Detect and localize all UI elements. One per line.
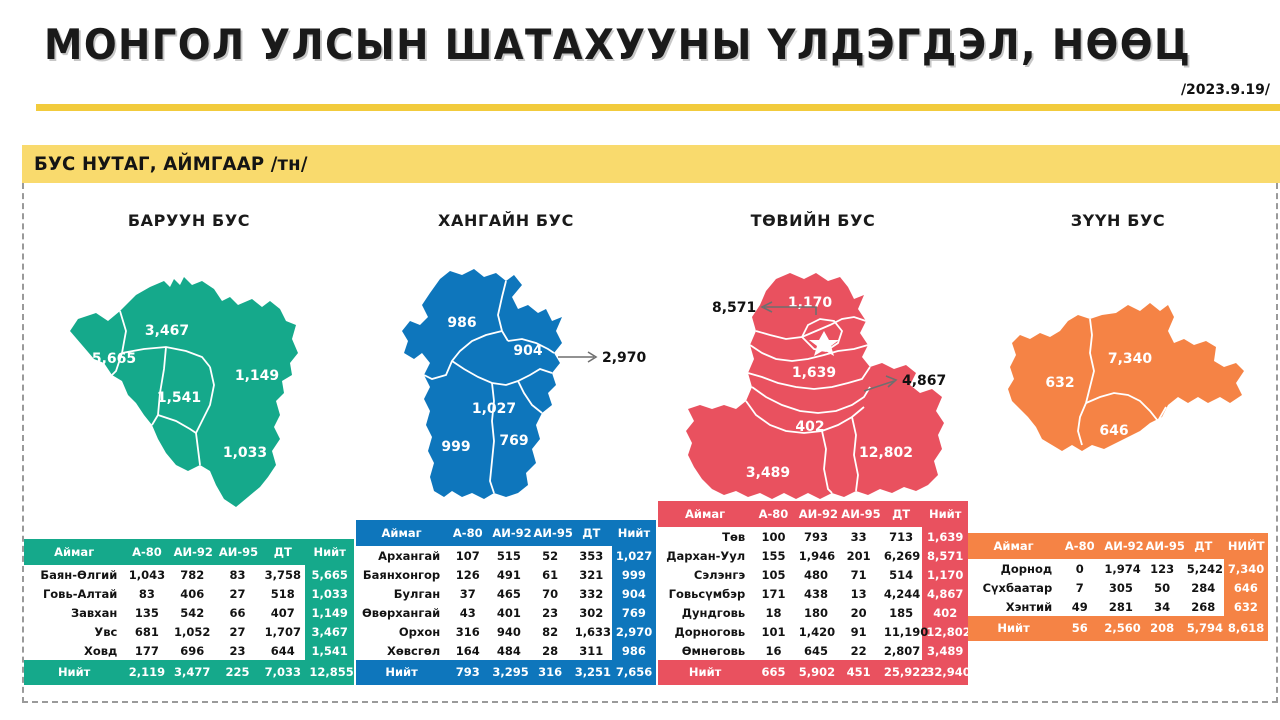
table-header-row: Аймаг А-80 АИ-92 АИ-95 ДТ Нийт: [356, 520, 656, 546]
region-block-zuun: ЗҮҮН БУС 632 7,340 646 Аймаг: [968, 183, 1268, 703]
cell-total: 1,639: [922, 527, 968, 546]
region-table-wrap-khangai: Аймаг А-80 АИ-92 АИ-95 ДТ Нийт Архангай …: [356, 520, 656, 685]
table-header-row: Аймаг А-80 АИ-92 АИ-95 ДТ Нийт: [24, 539, 354, 565]
total-sum: 8,618: [1224, 616, 1268, 641]
table-row: Дорноговь 101 1,420 91 11,190 12,802: [658, 622, 968, 641]
cell-name: Хэнтий: [968, 597, 1059, 616]
cell-ai95: 66: [215, 603, 260, 622]
callout-khangai-0: 2,970: [558, 350, 647, 366]
cell-total: 986: [612, 641, 656, 660]
cell-total: 1,027: [612, 546, 656, 565]
cell-ai92: 793: [795, 527, 838, 546]
col-header-ai92: АИ-92: [795, 501, 838, 527]
total-ai95: 451: [837, 660, 880, 685]
cell-a80: 49: [1059, 597, 1100, 616]
total-label: Нийт: [658, 660, 752, 685]
region-table-tuv: Аймаг А-80 АИ-92 АИ-95 ДТ Нийт Төв 100 7…: [658, 501, 968, 685]
cell-total: 646: [1224, 578, 1268, 597]
col-header-a80: А-80: [124, 539, 169, 565]
total-sum: 32,940: [922, 660, 968, 685]
cell-a80: 0: [1059, 559, 1100, 578]
cell-name: Дундговь: [658, 603, 752, 622]
cell-name: Сэлэнгэ: [658, 565, 752, 584]
cell-total: 1,541: [305, 641, 354, 660]
cell-ai95: 23: [215, 641, 260, 660]
map-value-khangai-0: 986: [447, 315, 476, 331]
cell-ai95: 201: [837, 546, 880, 565]
total-a80: 665: [752, 660, 795, 685]
cell-ai95: 83: [215, 565, 260, 584]
cell-ai95: 22: [837, 641, 880, 660]
map-value-zuun-1: 7,340: [1108, 351, 1153, 367]
cell-name: Дорноговь: [658, 622, 752, 641]
region-block-khangai: ХАНГАЙН БУС 986 904 1,027 999 769: [356, 183, 656, 703]
cell-ai92: 645: [795, 641, 838, 660]
cell-a80: 83: [124, 584, 169, 603]
total-a80: 793: [447, 660, 488, 685]
cell-a80: 155: [752, 546, 795, 565]
map-value-baruun-1: 3,467: [145, 323, 189, 339]
table-total-row: Нийт 2,119 3,477 225 7,033 12,855: [24, 660, 354, 685]
cell-total: 12,802: [922, 622, 968, 641]
cell-a80: 135: [124, 603, 169, 622]
cell-a80: 16: [752, 641, 795, 660]
map-value-khangai-4: 769: [499, 433, 528, 449]
col-header-total: Нийт: [612, 520, 656, 546]
table-total-row: Нийт 665 5,902 451 25,922 32,940: [658, 660, 968, 685]
cell-name: Архангай: [356, 546, 447, 565]
col-header-a80: А-80: [752, 501, 795, 527]
col-header-ai92: АИ-92: [488, 520, 529, 546]
cell-dt: 514: [880, 565, 923, 584]
cell-ai95: 27: [215, 584, 260, 603]
cell-name: Ховд: [24, 641, 124, 660]
table-row: Завхан 135 542 66 407 1,149: [24, 603, 354, 622]
cell-ai92: 542: [170, 603, 215, 622]
cell-a80: 100: [752, 527, 795, 546]
cell-dt: 644: [260, 641, 305, 660]
map-shape-khangai: [402, 269, 562, 499]
map-value-baruun-3: 1,541: [157, 390, 201, 406]
table-total-row: Нийт 793 3,295 316 3,251 7,656: [356, 660, 656, 685]
cell-ai92: 515: [488, 546, 529, 565]
cell-ai92: 406: [170, 584, 215, 603]
report-date: /2023.9.19/: [1181, 82, 1270, 98]
cell-name: Дархан-Уул: [658, 546, 752, 565]
total-dt: 3,251: [571, 660, 612, 685]
cell-ai92: 281: [1100, 597, 1141, 616]
total-dt: 25,922: [880, 660, 923, 685]
cell-ai92: 438: [795, 584, 838, 603]
cell-total: 2,970: [612, 622, 656, 641]
region-block-tuv: ТӨВИЙН БУС 1,170 1,639 402 12,802: [658, 183, 968, 703]
cell-a80: 171: [752, 584, 795, 603]
cell-total: 4,867: [922, 584, 968, 603]
cell-dt: 302: [571, 603, 612, 622]
cell-ai95: 34: [1142, 597, 1183, 616]
table-row: Дорнод 0 1,974 123 5,242 7,340: [968, 559, 1268, 578]
map-value-khangai-1: 904: [513, 343, 542, 359]
cell-dt: 268: [1183, 597, 1224, 616]
cell-name: Говь-Алтай: [24, 584, 124, 603]
cell-name: Завхан: [24, 603, 124, 622]
total-label: Нийт: [24, 660, 124, 685]
callout-value-tuv-0: 8,571: [712, 300, 756, 316]
col-header-name: Аймаг: [968, 533, 1059, 559]
cell-ai92: 305: [1100, 578, 1141, 597]
cell-total: 1,149: [305, 603, 354, 622]
callout-value-khangai-0: 2,970: [602, 350, 647, 366]
col-header-a80: А-80: [447, 520, 488, 546]
map-value-tuv-3: 12,802: [859, 445, 913, 461]
cell-a80: 681: [124, 622, 169, 641]
cell-dt: 321: [571, 565, 612, 584]
cell-ai95: 61: [530, 565, 571, 584]
total-a80: 56: [1059, 616, 1100, 641]
cell-total: 3,467: [305, 622, 354, 641]
total-ai95: 316: [530, 660, 571, 685]
cell-name: Баянхонгор: [356, 565, 447, 584]
map-value-zuun-0: 632: [1045, 375, 1074, 391]
table-row: Говьсүмбэр 171 438 13 4,244 4,867: [658, 584, 968, 603]
cell-a80: 1,043: [124, 565, 169, 584]
cell-ai92: 491: [488, 565, 529, 584]
map-value-khangai-3: 999: [441, 439, 470, 455]
cell-ai95: 70: [530, 584, 571, 603]
region-table-wrap-tuv: Аймаг А-80 АИ-92 АИ-95 ДТ Нийт Төв 100 7…: [658, 501, 968, 685]
total-ai92: 3,477: [170, 660, 215, 685]
col-header-ai95: АИ-95: [215, 539, 260, 565]
col-header-ai92: АИ-92: [1100, 533, 1141, 559]
total-ai95: 208: [1142, 616, 1183, 641]
map-value-baruun-0: 5,665: [92, 351, 136, 367]
cell-ai92: 1,974: [1100, 559, 1141, 578]
region-title-baruun: БАРУУН БУС: [24, 211, 354, 230]
cell-ai95: 123: [1142, 559, 1183, 578]
col-header-ai95: АИ-95: [530, 520, 571, 546]
cell-a80: 37: [447, 584, 488, 603]
table-row: Говь-Алтай 83 406 27 518 1,033: [24, 584, 354, 603]
table-row: Хөвсгөл 164 484 28 311 986: [356, 641, 656, 660]
col-header-name: Аймаг: [356, 520, 447, 546]
table-row: Төв 100 793 33 713 1,639: [658, 527, 968, 546]
table-header-row: Аймаг А-80 АИ-92 АИ-95 ДТ НИЙТ: [968, 533, 1268, 559]
cell-ai92: 782: [170, 565, 215, 584]
cell-a80: 43: [447, 603, 488, 622]
region-map-baruun: 5,665 3,467 1,149 1,541 1,033: [24, 235, 354, 535]
page-title: МОНГОЛ УЛСЫН ШАТАХУУНЫ ҮЛДЭГДЭЛ, НӨӨЦ: [44, 20, 1191, 69]
map-value-baruun-4: 1,033: [223, 445, 267, 461]
cell-a80: 101: [752, 622, 795, 641]
cell-total: 999: [612, 565, 656, 584]
cell-dt: 4,244: [880, 584, 923, 603]
region-table-khangai: Аймаг А-80 АИ-92 АИ-95 ДТ Нийт Архангай …: [356, 520, 656, 685]
region-block-baruun: БАРУУН БУС 5,665 3,467 1,149 1,541 1,033: [24, 183, 354, 703]
map-value-zuun-2: 646: [1099, 423, 1128, 439]
infographic-page: МОНГОЛ УЛСЫН ШАТАХУУНЫ ҮЛДЭГДЭЛ, НӨӨЦ /2…: [0, 0, 1280, 720]
cell-dt: 1,707: [260, 622, 305, 641]
cell-a80: 18: [752, 603, 795, 622]
cell-dt: 284: [1183, 578, 1224, 597]
cell-a80: 177: [124, 641, 169, 660]
cell-total: 632: [1224, 597, 1268, 616]
col-header-total: Нийт: [305, 539, 354, 565]
cell-a80: 107: [447, 546, 488, 565]
cell-name: Хөвсгөл: [356, 641, 447, 660]
col-header-dt: ДТ: [571, 520, 612, 546]
cell-a80: 7: [1059, 578, 1100, 597]
cell-total: 3,489: [922, 641, 968, 660]
map-value-tuv-2: 402: [795, 419, 824, 435]
cell-total: 904: [612, 584, 656, 603]
table-row: Орхон 316 940 82 1,633 2,970: [356, 622, 656, 641]
callout-value-tuv-1: 4,867: [902, 373, 946, 389]
cell-a80: 316: [447, 622, 488, 641]
col-header-name: Аймаг: [24, 539, 124, 565]
section-banner-label: БУС НУТАГ, АЙМГААР /тн/: [34, 153, 308, 175]
region-map-khangai: 986 904 1,027 999 769 2,970: [356, 235, 656, 535]
cell-ai95: 50: [1142, 578, 1183, 597]
cell-ai92: 480: [795, 565, 838, 584]
map-value-tuv-4: 3,489: [746, 465, 790, 481]
total-sum: 7,656: [612, 660, 656, 685]
total-label: Нийт: [968, 616, 1059, 641]
cell-ai95: 20: [837, 603, 880, 622]
cell-ai95: 27: [215, 622, 260, 641]
table-row: Архангай 107 515 52 353 1,027: [356, 546, 656, 565]
cell-name: Баян-Өлгий: [24, 565, 124, 584]
cell-dt: 11,190: [880, 622, 923, 641]
cell-a80: 164: [447, 641, 488, 660]
table-row: Хэнтий 49 281 34 268 632: [968, 597, 1268, 616]
cell-ai95: 82: [530, 622, 571, 641]
map-value-baruun-2: 1,149: [235, 368, 279, 384]
region-map-zuun: 632 7,340 646: [968, 235, 1268, 535]
map-value-tuv-1: 1,639: [792, 365, 836, 381]
region-table-baruun: Аймаг А-80 АИ-92 АИ-95 ДТ Нийт Баян-Өлги…: [24, 539, 354, 685]
region-title-khangai: ХАНГАЙН БУС: [356, 211, 656, 230]
col-header-ai95: АИ-95: [1142, 533, 1183, 559]
cell-a80: 105: [752, 565, 795, 584]
col-header-a80: А-80: [1059, 533, 1100, 559]
table-total-row: Нийт 56 2,560 208 5,794 8,618: [968, 616, 1268, 641]
cell-ai92: 1,420: [795, 622, 838, 641]
table-row: Сэлэнгэ 105 480 71 514 1,170: [658, 565, 968, 584]
table-header-row: Аймаг А-80 АИ-92 АИ-95 ДТ Нийт: [658, 501, 968, 527]
col-header-total: НИЙТ: [1224, 533, 1268, 559]
total-sum: 12,855: [305, 660, 354, 685]
table-row: Өвөрхангай 43 401 23 302 769: [356, 603, 656, 622]
table-row: Ховд 177 696 23 644 1,541: [24, 641, 354, 660]
cell-dt: 332: [571, 584, 612, 603]
cell-ai95: 71: [837, 565, 880, 584]
total-label: Нийт: [356, 660, 447, 685]
table-row: Баян-Өлгий 1,043 782 83 3,758 5,665: [24, 565, 354, 584]
cell-dt: 1,633: [571, 622, 612, 641]
cell-ai92: 696: [170, 641, 215, 660]
cell-dt: 2,807: [880, 641, 923, 660]
cell-ai92: 180: [795, 603, 838, 622]
table-row: Сүхбаатар 7 305 50 284 646: [968, 578, 1268, 597]
table-row: Дундговь 18 180 20 185 402: [658, 603, 968, 622]
cell-a80: 126: [447, 565, 488, 584]
cell-ai92: 1,946: [795, 546, 838, 565]
cell-name: Говьсүмбэр: [658, 584, 752, 603]
map-value-khangai-2: 1,027: [472, 401, 516, 417]
cell-dt: 311: [571, 641, 612, 660]
cell-name: Өмнөговь: [658, 641, 752, 660]
cell-dt: 5,242: [1183, 559, 1224, 578]
table-row: Булган 37 465 70 332 904: [356, 584, 656, 603]
cell-ai95: 23: [530, 603, 571, 622]
col-header-dt: ДТ: [260, 539, 305, 565]
cell-ai95: 13: [837, 584, 880, 603]
cell-ai92: 401: [488, 603, 529, 622]
col-header-dt: ДТ: [880, 501, 923, 527]
cell-dt: 185: [880, 603, 923, 622]
cell-total: 7,340: [1224, 559, 1268, 578]
region-title-tuv: ТӨВИЙН БУС: [658, 211, 968, 230]
cell-name: Увс: [24, 622, 124, 641]
cell-name: Төв: [658, 527, 752, 546]
col-header-dt: ДТ: [1183, 533, 1224, 559]
region-map-tuv: 1,170 1,639 402 12,802 3,489 8,571 4,867: [658, 235, 968, 535]
total-a80: 2,119: [124, 660, 169, 685]
table-row: Баянхонгор 126 491 61 321 999: [356, 565, 656, 584]
cell-total: 8,571: [922, 546, 968, 565]
cell-dt: 713: [880, 527, 923, 546]
table-row: Увс 681 1,052 27 1,707 3,467: [24, 622, 354, 641]
col-header-ai92: АИ-92: [170, 539, 215, 565]
table-row: Дархан-Уул 155 1,946 201 6,269 8,571: [658, 546, 968, 565]
header-rule-divider: [36, 104, 1280, 111]
cell-total: 769: [612, 603, 656, 622]
cell-ai95: 28: [530, 641, 571, 660]
table-row: Өмнөговь 16 645 22 2,807 3,489: [658, 641, 968, 660]
cell-ai95: 33: [837, 527, 880, 546]
total-dt: 7,033: [260, 660, 305, 685]
cell-name: Сүхбаатар: [968, 578, 1059, 597]
cell-total: 5,665: [305, 565, 354, 584]
cell-dt: 353: [571, 546, 612, 565]
cell-dt: 6,269: [880, 546, 923, 565]
total-ai92: 5,902: [795, 660, 838, 685]
cell-name: Орхон: [356, 622, 447, 641]
cell-ai92: 484: [488, 641, 529, 660]
cell-dt: 518: [260, 584, 305, 603]
map-value-tuv-0: 1,170: [788, 295, 833, 311]
total-ai92: 3,295: [488, 660, 529, 685]
cell-ai92: 940: [488, 622, 529, 641]
cell-dt: 3,758: [260, 565, 305, 584]
region-table-wrap-baruun: Аймаг А-80 АИ-92 АИ-95 ДТ Нийт Баян-Өлги…: [24, 539, 354, 685]
total-ai95: 225: [215, 660, 260, 685]
total-ai92: 2,560: [1100, 616, 1141, 641]
cell-total: 1,170: [922, 565, 968, 584]
cell-ai92: 465: [488, 584, 529, 603]
cell-ai95: 52: [530, 546, 571, 565]
total-dt: 5,794: [1183, 616, 1224, 641]
col-header-name: Аймаг: [658, 501, 752, 527]
cell-name: Дорнод: [968, 559, 1059, 578]
cell-name: Өвөрхангай: [356, 603, 447, 622]
cell-ai95: 91: [837, 622, 880, 641]
region-table-zuun: Аймаг А-80 АИ-92 АИ-95 ДТ НИЙТ Дорнод 0 …: [968, 533, 1268, 641]
col-header-ai95: АИ-95: [837, 501, 880, 527]
col-header-total: Нийт: [922, 501, 968, 527]
cell-total: 402: [922, 603, 968, 622]
cell-ai92: 1,052: [170, 622, 215, 641]
cell-dt: 407: [260, 603, 305, 622]
region-title-zuun: ЗҮҮН БУС: [968, 211, 1268, 230]
cell-total: 1,033: [305, 584, 354, 603]
cell-name: Булган: [356, 584, 447, 603]
region-table-wrap-zuun: Аймаг А-80 АИ-92 АИ-95 ДТ НИЙТ Дорнод 0 …: [968, 533, 1268, 641]
